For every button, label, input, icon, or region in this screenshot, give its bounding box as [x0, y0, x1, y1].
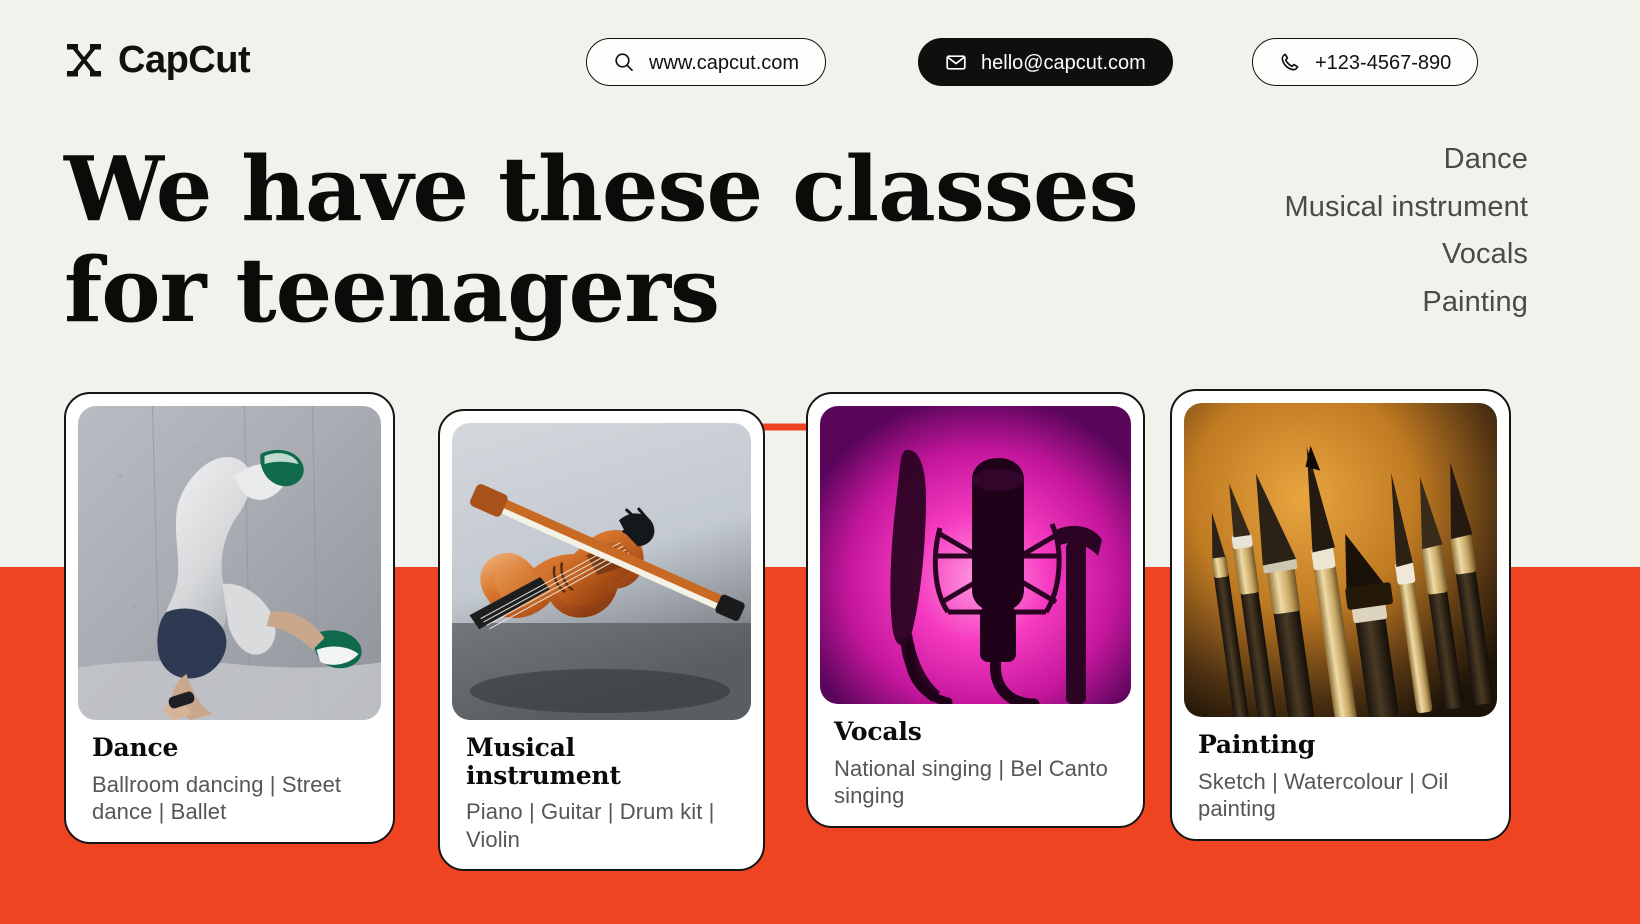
class-card-musical-instrument[interactable]: Musical instrument Piano | Guitar | Drum…	[438, 409, 765, 871]
card-title: Musical instrument	[466, 734, 737, 789]
breakdancer-photo	[78, 406, 381, 720]
card-subtitle: Piano | Guitar | Drum kit | Violin	[466, 798, 737, 853]
violin-and-bow-photo	[452, 423, 751, 720]
card-body: Dance Ballroom dancing | Street dance | …	[78, 720, 381, 826]
card-title: Dance	[92, 734, 367, 762]
card-subtitle: National singing | Bel Canto singing	[834, 755, 1117, 810]
card-title: Vocals	[834, 718, 1117, 746]
class-card-dance[interactable]: Dance Ballroom dancing | Street dance | …	[64, 392, 395, 844]
paint-brushes-photo	[1184, 403, 1497, 717]
class-card-painting[interactable]: Painting Sketch | Watercolour | Oil pain…	[1170, 389, 1511, 841]
class-card-vocals[interactable]: Vocals National singing | Bel Canto sing…	[806, 392, 1145, 828]
card-body: Vocals National singing | Bel Canto sing…	[820, 704, 1131, 810]
card-subtitle: Sketch | Watercolour | Oil painting	[1198, 768, 1483, 823]
card-subtitle: Ballroom dancing | Street dance | Ballet	[92, 771, 367, 826]
card-title: Painting	[1198, 731, 1483, 759]
class-card-grid: Dance Ballroom dancing | Street dance | …	[0, 0, 1640, 924]
studio-microphone-photo	[820, 406, 1131, 704]
card-body: Musical instrument Piano | Guitar | Drum…	[452, 720, 751, 853]
poster-canvas: CapCut www.capcut.com hello@capcut.com	[0, 0, 1640, 924]
card-body: Painting Sketch | Watercolour | Oil pain…	[1184, 717, 1497, 823]
